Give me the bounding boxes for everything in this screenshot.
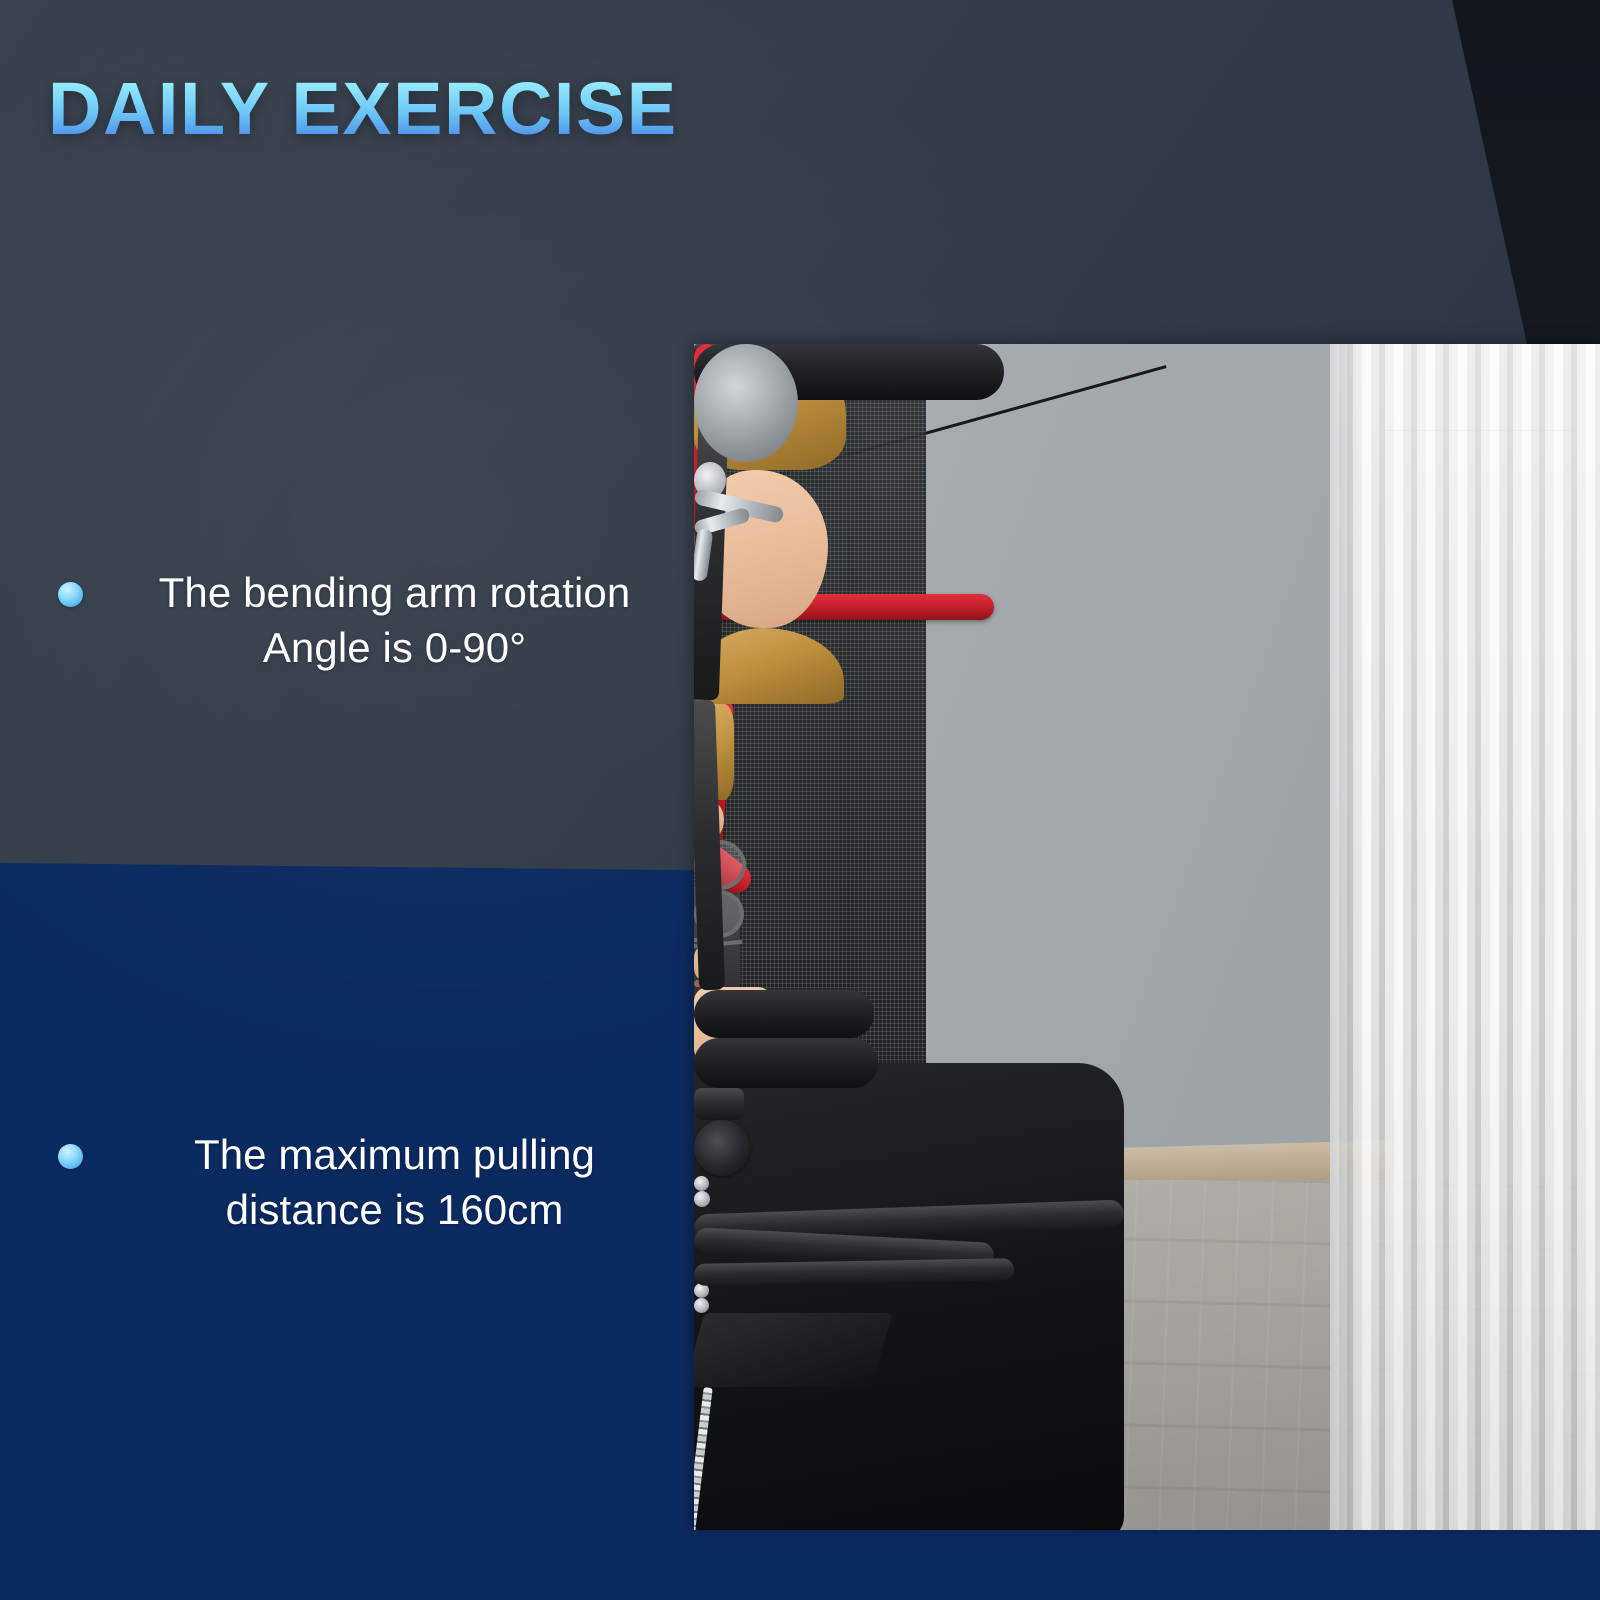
poster-canvas: DAILY EXERCISE The bending arm rotation …: [0, 0, 1600, 1600]
feature-text-rotation-angle: The bending arm rotation Angle is 0-90°: [121, 566, 668, 675]
feature-line-2: distance is 160cm: [226, 1186, 564, 1233]
product-photo: [694, 344, 1600, 1530]
bullet-dot-icon: [58, 582, 83, 607]
ez-curl-barbell: [694, 344, 798, 581]
feature-item-rotation-angle: The bending arm rotation Angle is 0-90°: [58, 566, 668, 675]
floor-chain: [694, 1387, 713, 1530]
feature-line-1: The maximum pulling: [194, 1131, 595, 1178]
curtain-edge-shadow: [1330, 344, 1364, 1530]
leg-roller-upper: [694, 1038, 878, 1088]
curtain-daylight-glow: [1330, 344, 1600, 1530]
feature-item-pulling-distance: The maximum pulling distance is 160cm: [58, 1128, 668, 1237]
feature-line-1: The bending arm rotation: [159, 569, 631, 616]
bullet-dot-icon: [58, 1144, 83, 1169]
feature-text-pulling-distance: The maximum pulling distance is 160cm: [121, 1128, 668, 1237]
page-title: DAILY EXERCISE: [48, 72, 678, 146]
leg-roller-lower: [694, 990, 874, 1038]
foot-plate: [694, 1313, 893, 1387]
weight-plate: [694, 344, 798, 462]
feature-line-2: Angle is 0-90°: [263, 624, 526, 671]
